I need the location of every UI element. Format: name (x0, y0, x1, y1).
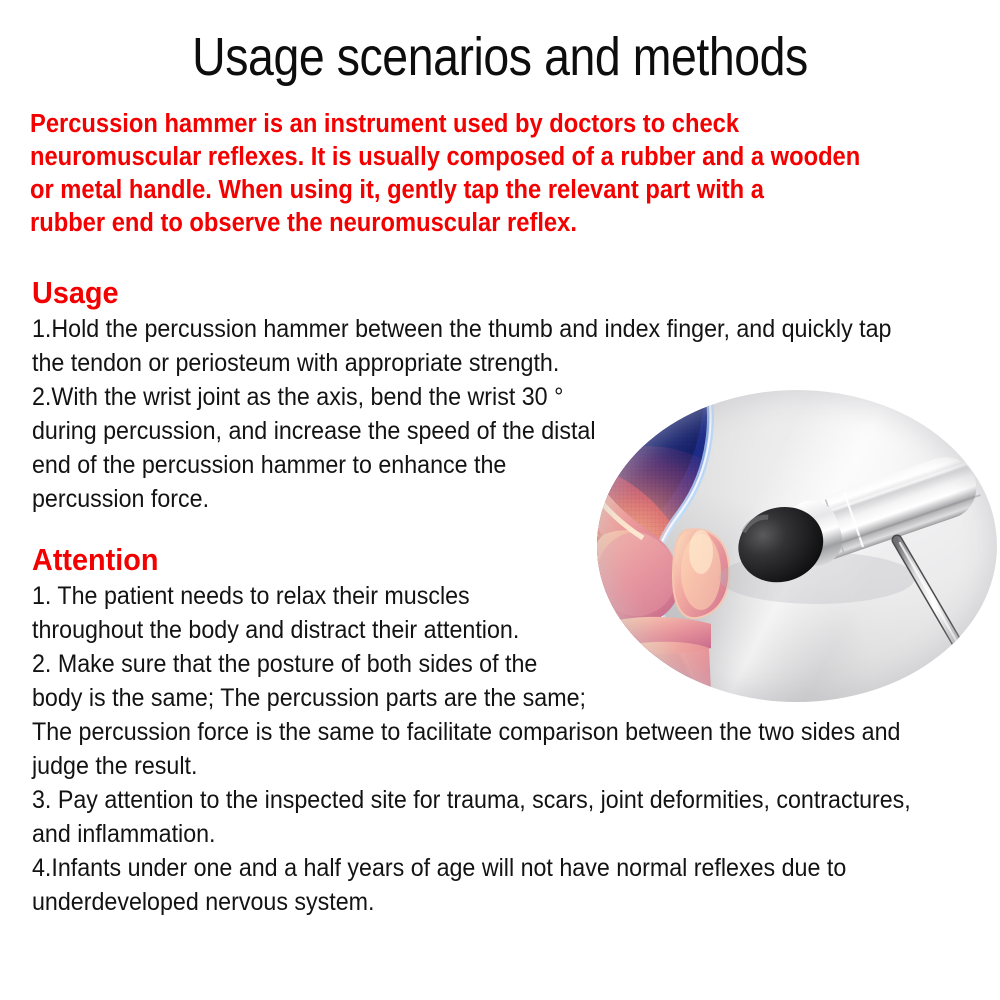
intro-line: Percussion hammer is an instrument used … (30, 108, 946, 141)
intro-line: or metal handle. When using it, gently t… (30, 174, 946, 207)
attention-line: judge the result. (32, 749, 971, 783)
product-photo-circle (597, 390, 997, 702)
attention-line: 3. Pay attention to the inspected site f… (32, 783, 971, 817)
usage-line: 1.Hold the percussion hammer between the… (32, 312, 971, 346)
reflex-hammer (597, 390, 997, 702)
usage-heading: Usage (32, 276, 971, 310)
usage-line: the tendon or periosteum with appropriat… (32, 346, 971, 380)
page-title: Usage scenarios and methods (70, 26, 930, 88)
attention-line: The percussion force is the same to faci… (32, 715, 971, 749)
attention-line: and inflammation. (32, 817, 971, 851)
attention-line: underdeveloped nervous system. (32, 885, 971, 919)
attention-line: 4.Infants under one and a half years of … (32, 851, 971, 885)
intro-line: rubber end to observe the neuromuscular … (30, 207, 946, 240)
intro-line: neuromuscular reflexes. It is usually co… (30, 141, 946, 174)
intro-paragraph: Percussion hammer is an instrument used … (30, 108, 946, 240)
